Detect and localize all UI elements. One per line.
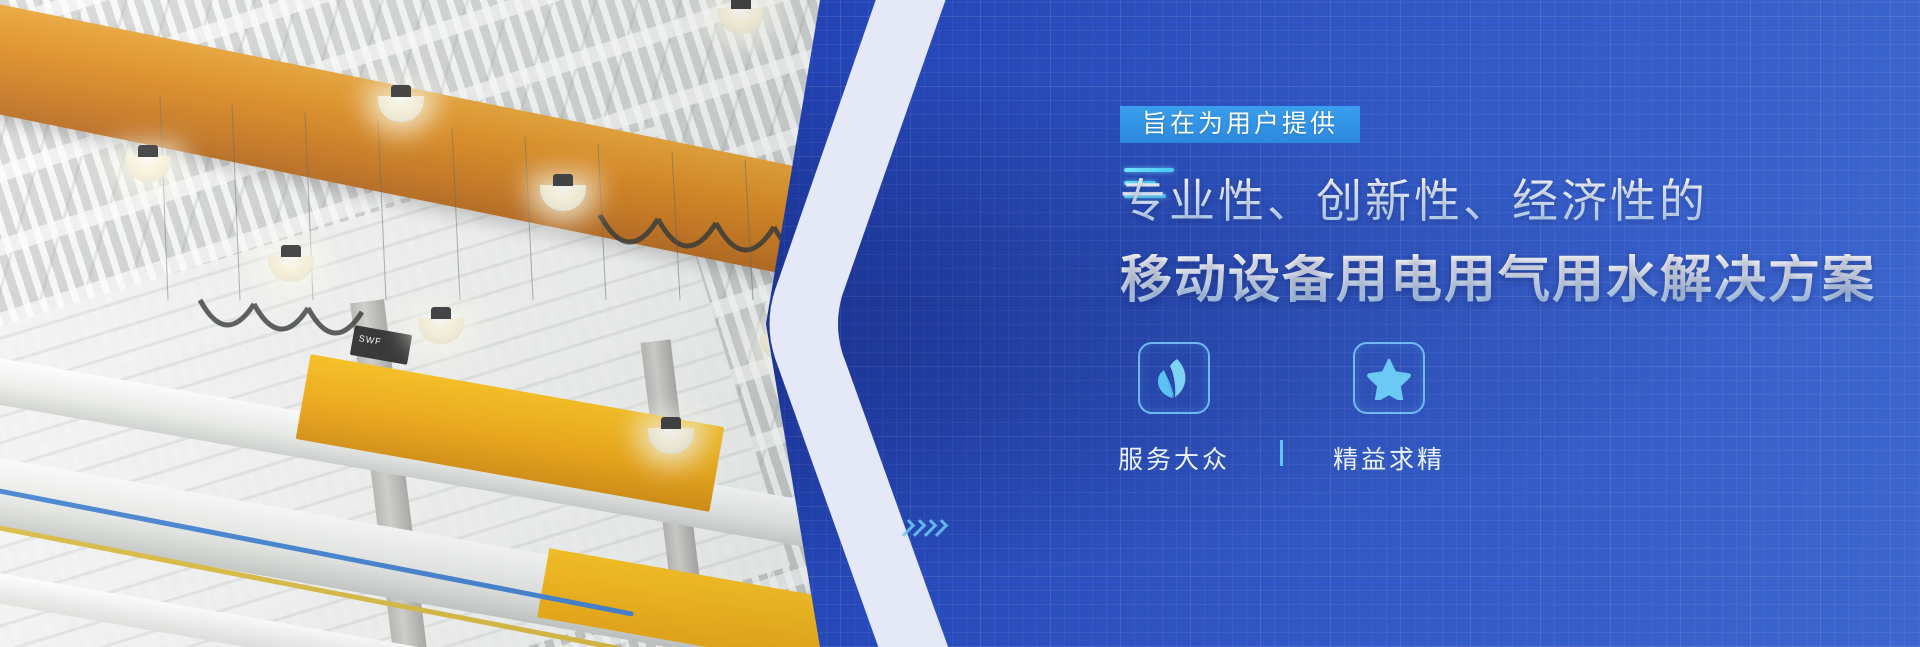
star-icon bbox=[1367, 356, 1411, 400]
feature-item-excellence: 精益求精 bbox=[1335, 342, 1443, 476]
feature-list: 服务大众 精益求精 bbox=[1120, 342, 1443, 476]
headline-line-1: 专业性、创新性、经济性的 bbox=[1120, 178, 1708, 224]
feature-label: 服务大众 bbox=[1118, 440, 1230, 476]
separator-bar bbox=[1280, 440, 1283, 466]
leaf-icon bbox=[1152, 356, 1196, 400]
decorative-line bbox=[1124, 168, 1174, 172]
chevron-arrow-decoration bbox=[902, 520, 946, 536]
tagline-badge: 旨在为用户提供 bbox=[1120, 106, 1360, 143]
headline-line-2: 移动设备用电用气用水解决方案 bbox=[1120, 254, 1876, 306]
leaf-icon-frame bbox=[1138, 342, 1210, 414]
banner-content: 旨在为用户提供 专业性、创新性、经济性的 移动设备用电用气用水解决方案 服务大众 bbox=[1120, 0, 1920, 647]
feature-item-service: 服务大众 bbox=[1120, 342, 1228, 476]
feature-separator bbox=[1228, 342, 1335, 466]
chevron-divider bbox=[560, 0, 1100, 647]
hero-banner: 旨在为用户提供 专业性、创新性、经济性的 移动设备用电用气用水解决方案 服务大众 bbox=[0, 0, 1920, 647]
tagline-badge-text: 旨在为用户提供 bbox=[1142, 112, 1338, 137]
feature-label: 精益求精 bbox=[1333, 440, 1445, 476]
star-icon-frame bbox=[1353, 342, 1425, 414]
